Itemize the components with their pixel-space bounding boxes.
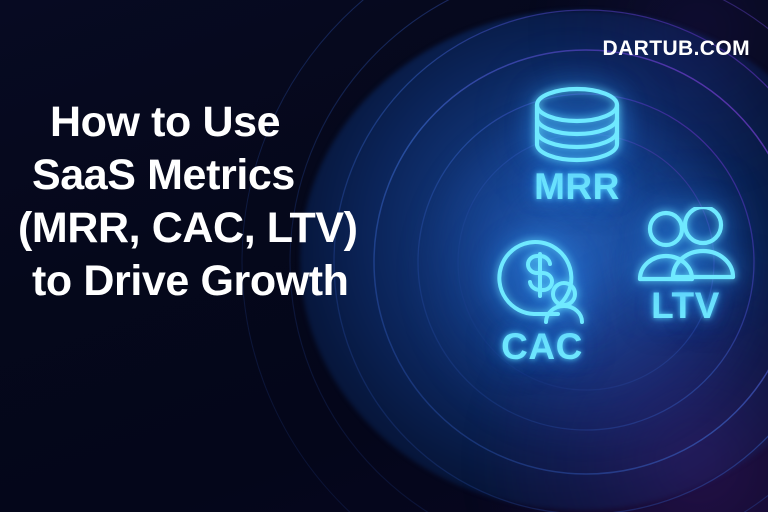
database-cylinder-icon — [487, 84, 667, 164]
dollar-circle-person-icon — [462, 230, 622, 326]
metric-label-mrr: MRR — [487, 168, 667, 205]
title-line-1: How to Use — [18, 96, 438, 149]
title-line-3: (MRR, CAC, LTV) — [18, 202, 438, 255]
site-logo[interactable]: DARTUB.COM — [603, 37, 750, 61]
metric-node-mrr: MRR — [487, 84, 667, 205]
metric-node-cac: CAC — [462, 230, 622, 365]
title-line-4: to Drive Growth — [18, 255, 438, 308]
two-people-icon — [613, 207, 758, 287]
page-title: How to Use SaaS Metrics (MRR, CAC, LTV) … — [18, 96, 438, 308]
cover-graphic: DARTUB.COM How to Use SaaS Metrics (MRR,… — [0, 0, 768, 512]
metric-label-cac: CAC — [462, 328, 622, 365]
title-line-2: SaaS Metrics — [18, 149, 438, 202]
metric-node-ltv: LTV — [613, 207, 758, 324]
metric-label-ltv: LTV — [613, 287, 758, 324]
